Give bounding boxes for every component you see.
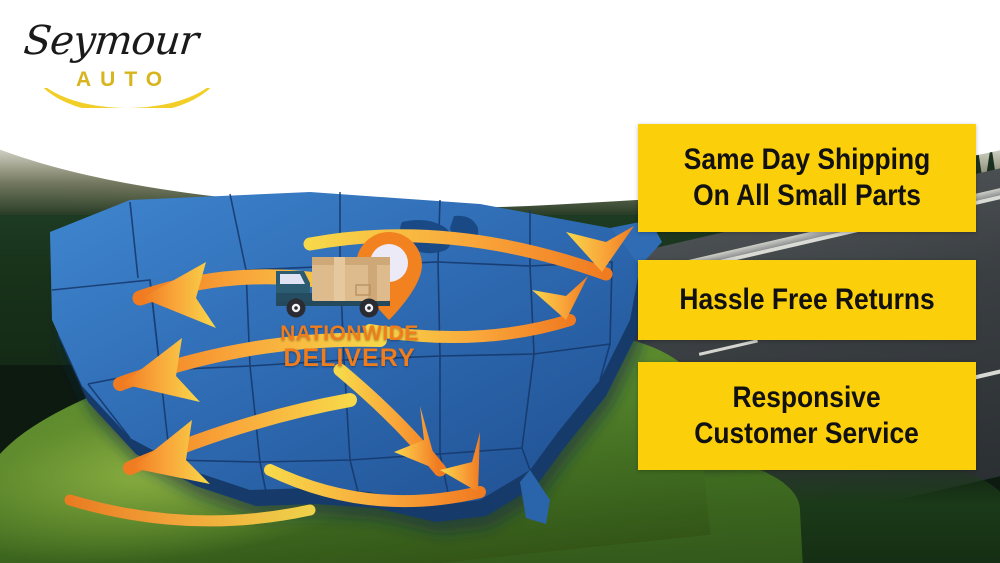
nationwide-line: NATIONWIDE xyxy=(262,323,437,345)
nationwide-delivery-label: NATIONWIDE DELIVERY xyxy=(262,323,437,372)
nationwide-delivery-graphic: NATIONWIDE DELIVERY xyxy=(262,225,437,385)
florida-region xyxy=(520,470,550,524)
callout-text: Same Day Shipping On All Small Parts xyxy=(684,142,930,214)
delivery-line: DELIVERY xyxy=(262,345,437,372)
callout-hassle-free-returns[interactable]: Hassle Free Returns xyxy=(638,260,976,340)
callout-responsive-customer-service[interactable]: Responsive Customer Service xyxy=(638,362,976,470)
callout-same-day-shipping[interactable]: Same Day Shipping On All Small Parts xyxy=(638,124,976,232)
logo-swoosh-icon xyxy=(32,88,222,108)
brand-logo[interactable]: Seymour AUTO xyxy=(18,16,228,102)
promo-banner: (function(){ var host=document.currentSc… xyxy=(0,0,1000,563)
callout-text: Hassle Free Returns xyxy=(679,282,934,318)
delivery-truck-icon xyxy=(270,253,395,323)
callout-text: Responsive Customer Service xyxy=(695,380,920,452)
logo-wordmark: Seymour xyxy=(22,18,200,64)
